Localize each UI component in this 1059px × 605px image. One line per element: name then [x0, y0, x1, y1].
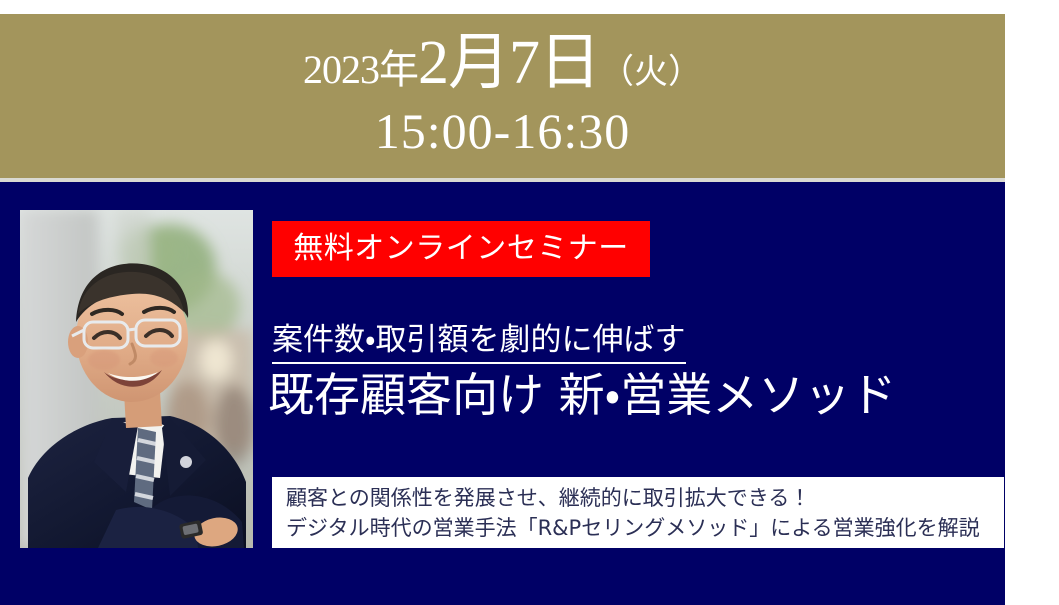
date-year: 2023年 — [303, 50, 418, 90]
date-band: 2023年2月7日（火） 15:00-16:30 — [0, 14, 1005, 178]
free-seminar-badge: 無料オンラインセミナー — [272, 221, 650, 277]
headline-main: 既存顧客向け 新・営業メソッド — [268, 368, 896, 423]
seminar-time: 15:00-16:30 — [375, 106, 630, 156]
date-weekday: （火） — [600, 56, 702, 90]
seminar-banner: 2023年2月7日（火） 15:00-16:30 — [0, 0, 1059, 605]
seminar-date: 2023年2月7日（火） — [303, 32, 702, 94]
date-month-day: 2月7日 — [418, 32, 600, 94]
free-seminar-badge-label: 無料オンラインセミナー — [293, 234, 629, 264]
description-line-1: 顧客との関係性を発展させ、継続的に取引拡大できる！ — [286, 484, 1004, 514]
description-line-2: デジタル時代の営業手法「R&Pセリングメソッド」による営業強化を解説 — [286, 514, 1004, 544]
headline-subtitle: 案件数・取引額を劇的に伸ばす — [272, 322, 686, 364]
speaker-photo — [20, 210, 253, 548]
description-box: 顧客との関係性を発展させ、継続的に取引拡大できる！ デジタル時代の営業手法「R&… — [272, 477, 1004, 548]
